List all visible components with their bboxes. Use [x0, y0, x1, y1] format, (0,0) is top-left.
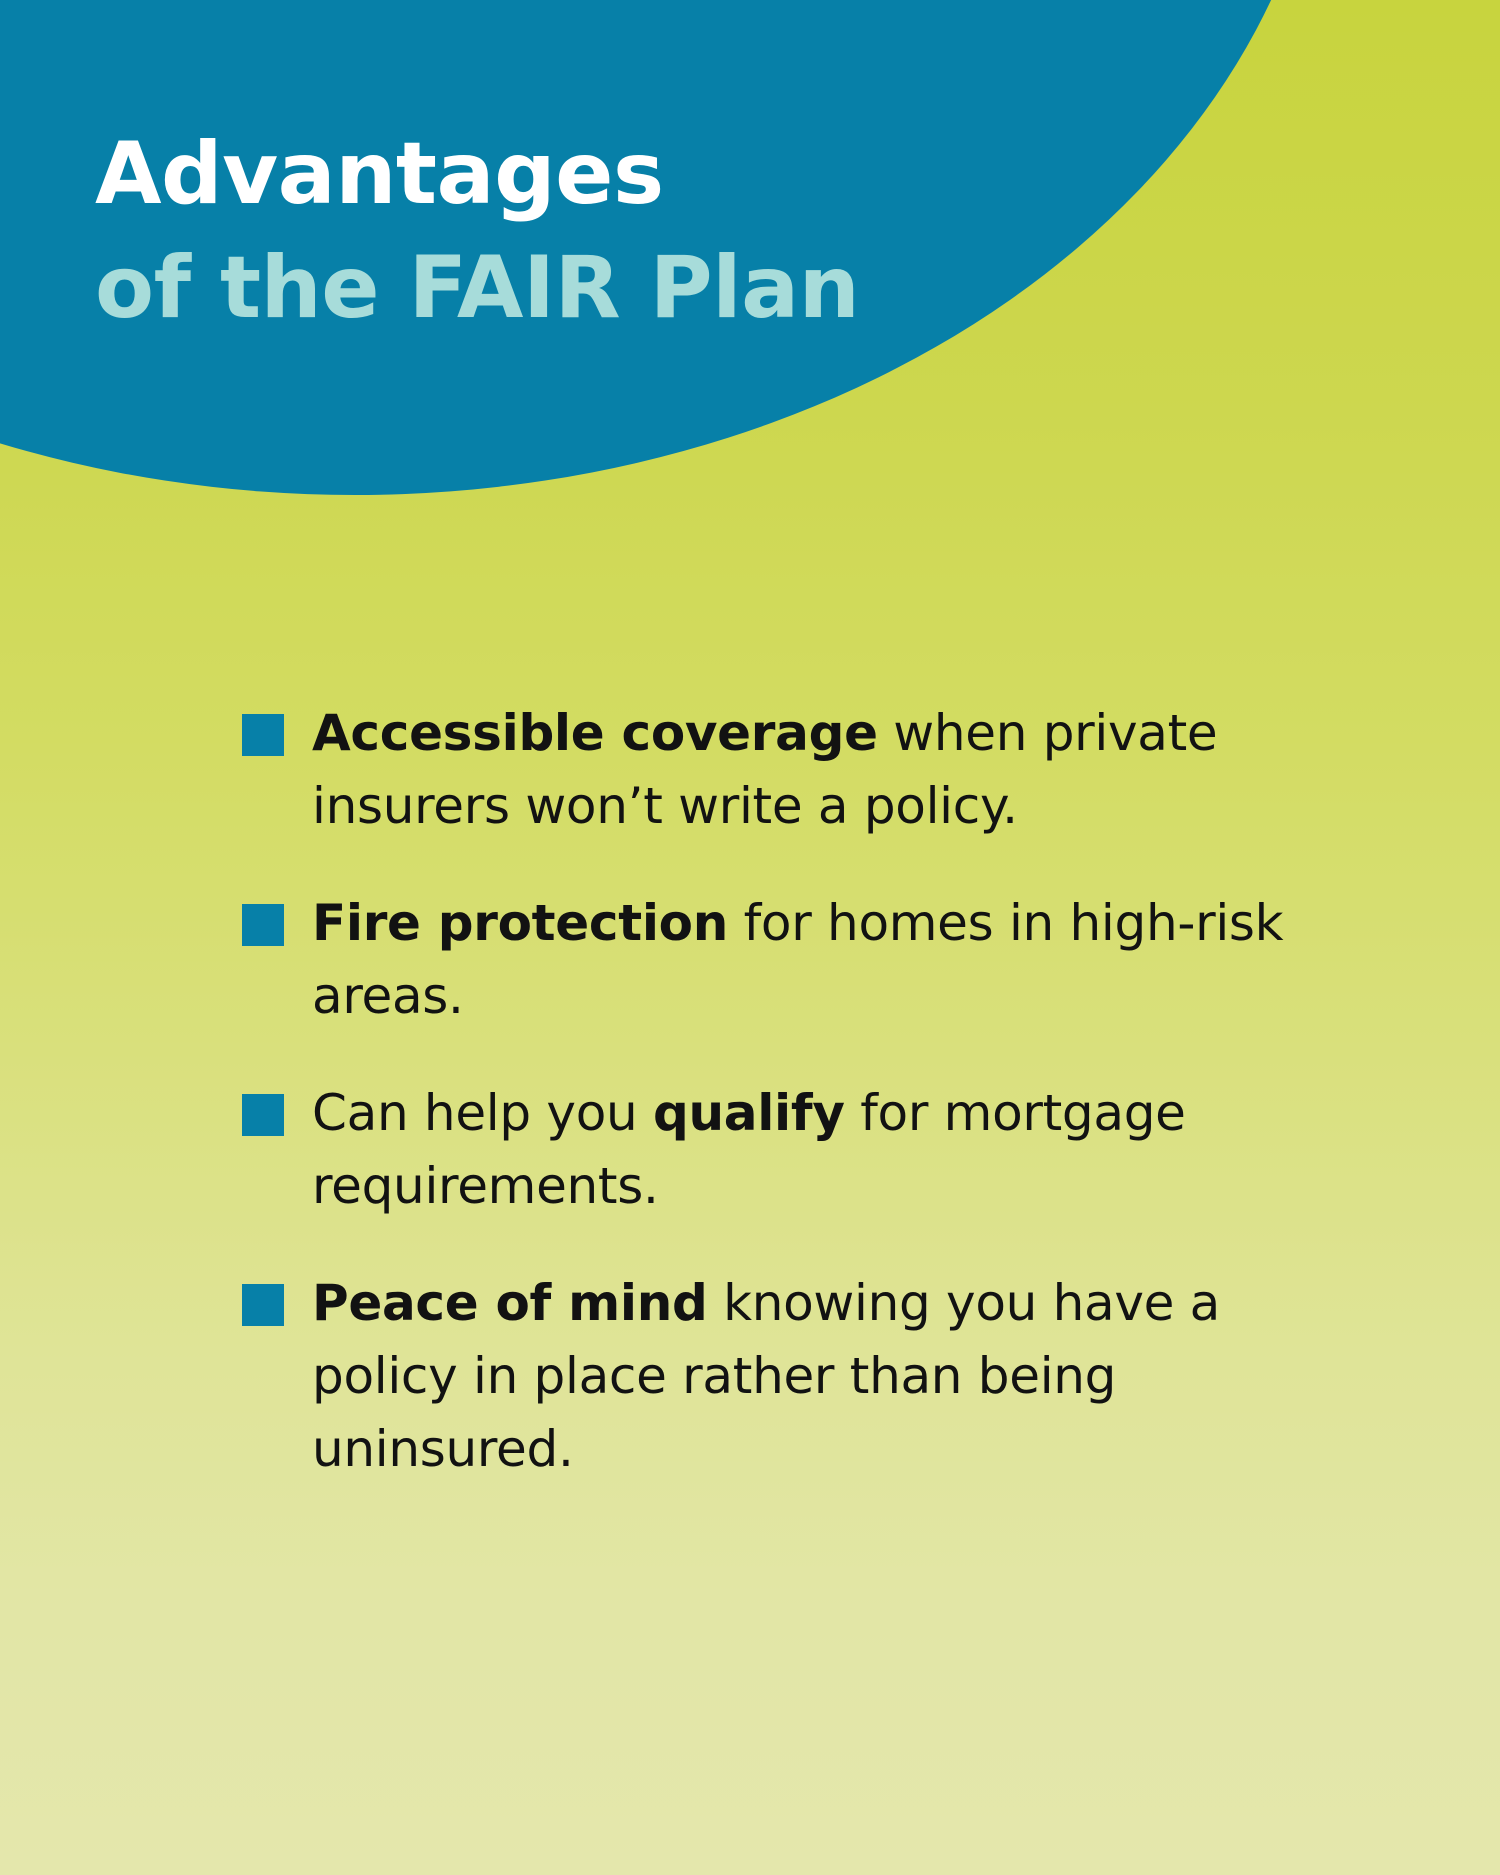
square-bullet-icon — [242, 714, 284, 756]
list-item: Peace of mind knowing you have a policy … — [242, 1267, 1332, 1486]
square-bullet-icon — [242, 1284, 284, 1326]
square-bullet-icon — [242, 904, 284, 946]
list-item: Can help you qualify for mortgage requir… — [242, 1077, 1332, 1223]
list-item-text: Accessible coverage when private insurer… — [312, 697, 1332, 843]
list-item-lead: Peace of mind — [312, 1274, 708, 1332]
list-item: Accessible coverage when private insurer… — [242, 697, 1332, 843]
list-item-lead: Accessible coverage — [312, 704, 878, 762]
list-item-text: Can help you qualify for mortgage requir… — [312, 1077, 1332, 1223]
page-title-line-2: of the FAIR Plan — [95, 232, 859, 346]
square-bullet-icon — [242, 1094, 284, 1136]
page-title-line-2-prefix: of the — [95, 238, 409, 338]
page-title-line-2-emphasis: FAIR Plan — [409, 238, 860, 338]
list-item: Fire protection for homes in high-risk a… — [242, 887, 1332, 1033]
list-item-lead: Fire protection — [312, 894, 728, 952]
list-item-text: Fire protection for homes in high-risk a… — [312, 887, 1332, 1033]
advantages-list: Accessible coverage when private insurer… — [242, 697, 1332, 1530]
list-item-text: Peace of mind knowing you have a policy … — [312, 1267, 1332, 1486]
list-item-lead-before: Can help you — [312, 1084, 653, 1142]
list-item-lead: qualify — [653, 1084, 845, 1142]
page-header: Advantages of the FAIR Plan — [95, 118, 859, 345]
page-title-line-1: Advantages — [95, 118, 859, 232]
